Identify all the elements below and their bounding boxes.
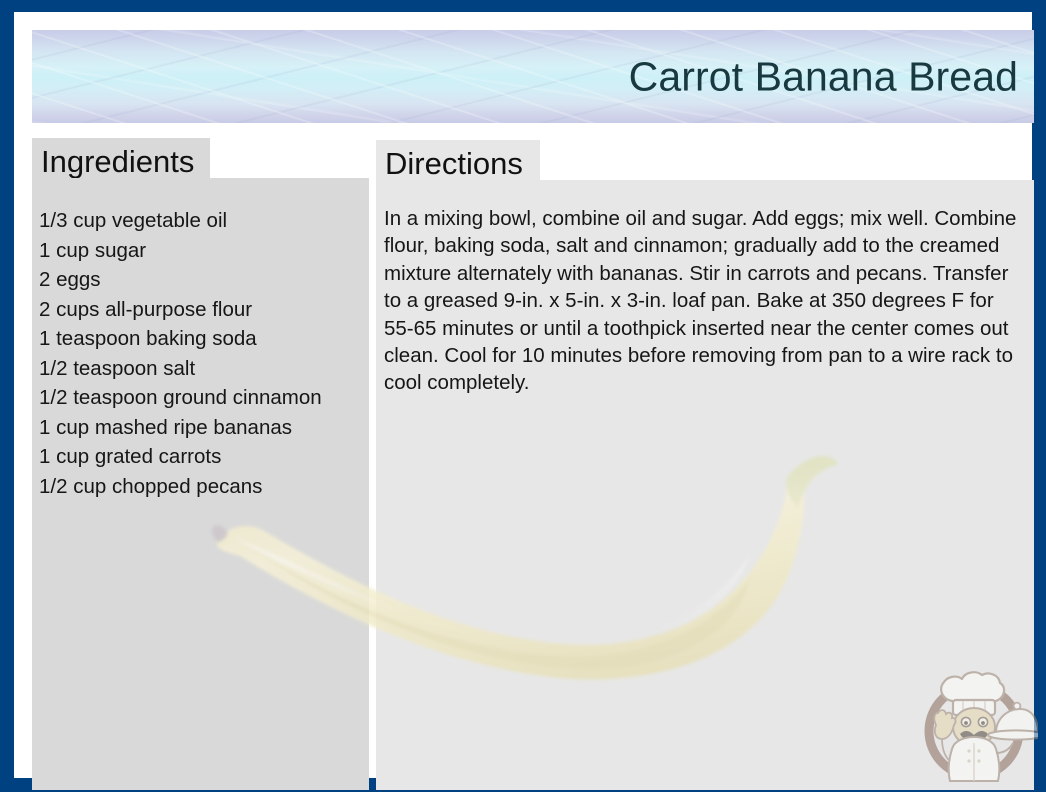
slide-frame: Carrot Banana Bread Ingredients 1/3 cup … — [0, 0, 1046, 792]
list-item: 1/2 teaspoon salt — [39, 354, 363, 384]
list-item: 1 teaspoon baking soda — [39, 324, 363, 354]
directions-panel: In a mixing bowl, combine oil and sugar.… — [376, 180, 1034, 790]
slide-page: Carrot Banana Bread Ingredients 1/3 cup … — [14, 12, 1032, 778]
list-item: 2 cups all-purpose flour — [39, 295, 363, 325]
list-item: 1 cup mashed ripe bananas — [39, 413, 363, 443]
ingredients-panel: 1/3 cup vegetable oil 1 cup sugar 2 eggs… — [32, 178, 369, 790]
directions-body: In a mixing bowl, combine oil and sugar.… — [384, 205, 1024, 397]
page-title: Carrot Banana Bread — [629, 53, 1018, 100]
list-item: 1 cup grated carrots — [39, 442, 363, 472]
list-item: 1/3 cup vegetable oil — [39, 206, 363, 236]
ingredients-list: 1/3 cup vegetable oil 1 cup sugar 2 eggs… — [39, 206, 363, 501]
header-banner: Carrot Banana Bread — [32, 30, 1034, 123]
list-item: 1/2 cup chopped pecans — [39, 472, 363, 502]
list-item: 2 eggs — [39, 265, 363, 295]
list-item: 1/2 teaspoon ground cinnamon — [39, 383, 363, 413]
list-item: 1 cup sugar — [39, 236, 363, 266]
